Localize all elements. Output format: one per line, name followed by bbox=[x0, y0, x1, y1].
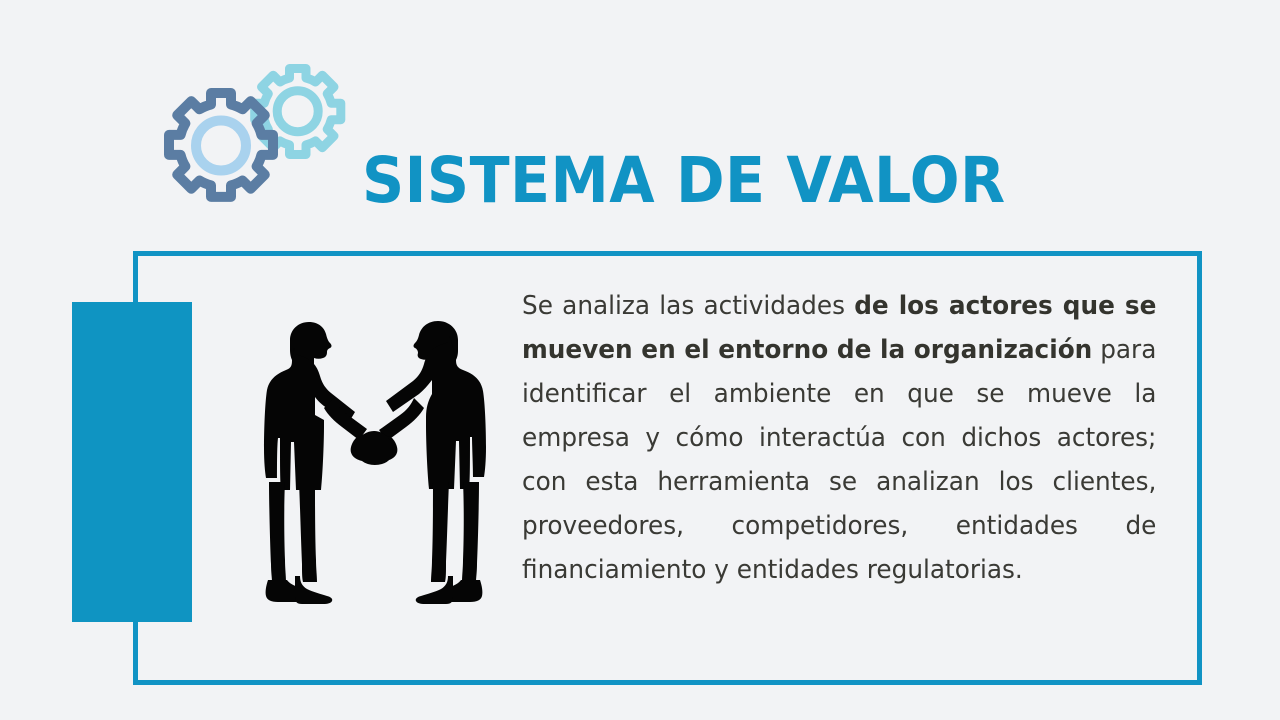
page-title: SISTEMA DE VALOR bbox=[362, 141, 1006, 221]
slide-canvas: SISTEMA DE VALOR bbox=[0, 0, 1280, 720]
gears-icon bbox=[148, 52, 364, 230]
paragraph-text: para identificar el ambiente en que se m… bbox=[522, 335, 1156, 585]
accent-block bbox=[72, 302, 192, 622]
paragraph-text: Se analiza las actividades bbox=[522, 291, 854, 321]
handshake-silhouette bbox=[252, 312, 496, 618]
gear-large-icon bbox=[169, 93, 273, 197]
gear-large-inner-circle bbox=[196, 121, 246, 171]
body-paragraph: Se analiza las actividades de los actore… bbox=[522, 284, 1156, 592]
